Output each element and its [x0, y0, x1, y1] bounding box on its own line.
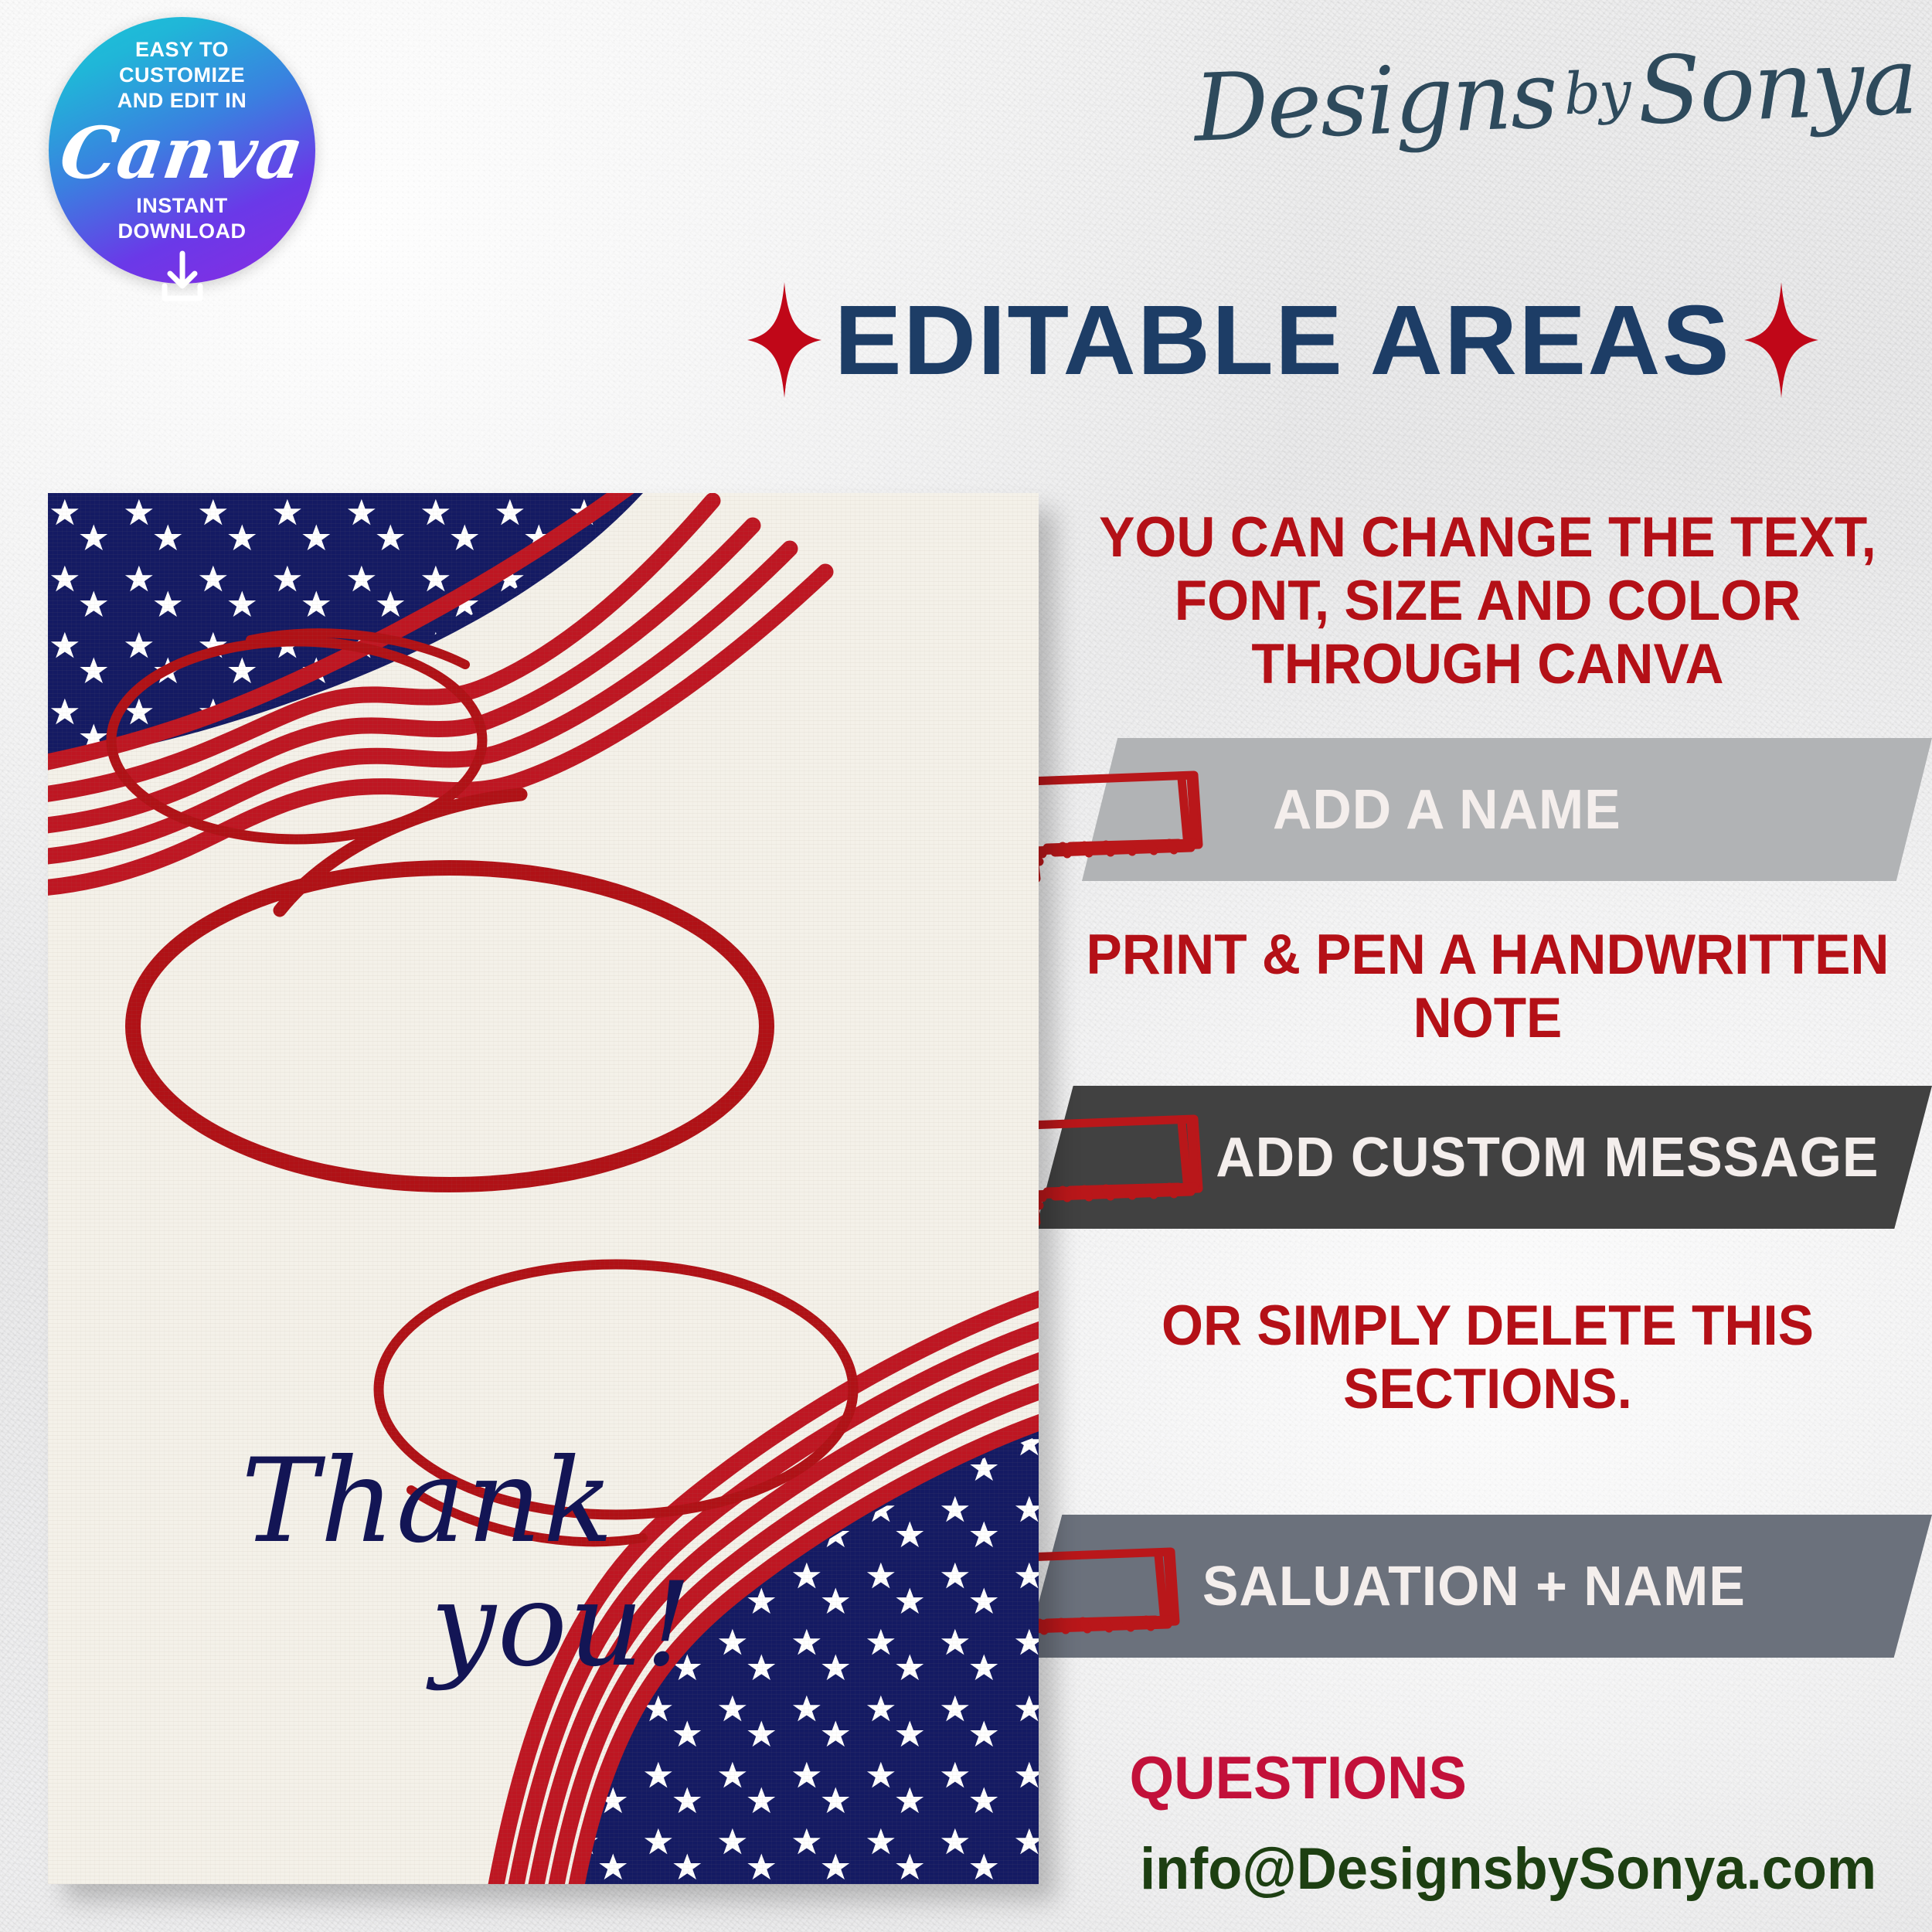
questions-label: QUESTIONS: [1129, 1743, 1466, 1813]
page-title: EDITABLE AREAS: [835, 284, 1731, 397]
brand-name-part1: Designs: [1192, 41, 1558, 162]
banner-label: ADD CUSTOM MESSAGE: [1216, 1126, 1879, 1189]
canva-badge[interactable]: EASY TO CUSTOMIZE AND EDIT IN Canva INST…: [49, 17, 315, 284]
badge-line-2: CUSTOMIZE: [119, 63, 245, 88]
badge-line-3: AND EDIT IN: [117, 88, 247, 114]
flag-bottom-right: [495, 1294, 1039, 1884]
banner-label: ADD A NAME: [1273, 778, 1621, 842]
sparkle-icon: [747, 282, 821, 398]
badge-line-5: DOWNLOAD: [118, 219, 247, 244]
instruction-print-text: PRINT & PEN A HANDWRITTEN NOTE: [1070, 923, 1906, 1050]
message-ellipse: [133, 794, 767, 1185]
page-title-row: EDITABLE AREAS: [649, 274, 1917, 406]
canva-wordmark: Canva: [56, 117, 308, 189]
thank-you-card-preview[interactable]: Thank you!: [48, 493, 1039, 1884]
badge-line-4: INSTANT: [136, 193, 228, 219]
instruction-delete-text: OR SIMPLY DELETE THIS SECTIONS.: [1070, 1294, 1906, 1421]
brand-logo: DesignsbySonya: [1103, 8, 1920, 185]
badge-line-1: EASY TO: [135, 37, 229, 63]
brand-name-part2: Sonya: [1635, 27, 1918, 145]
brand-connector: by: [1555, 59, 1638, 128]
poster-canvas: EASY TO CUSTOMIZE AND EDIT IN Canva INST…: [0, 0, 1932, 1932]
contact-email[interactable]: info@DesignsbySonya.com: [1140, 1835, 1876, 1903]
banner-label: SALUATION + NAME: [1202, 1555, 1746, 1618]
instruction-change-text: YOU CAN CHANGE THE TEXT, FONT, SIZE AND …: [1070, 506, 1906, 696]
card-artwork: [48, 493, 1039, 1884]
flag-top-left: [48, 493, 825, 889]
download-icon: [155, 249, 210, 308]
sparkle-icon: [1744, 282, 1818, 398]
